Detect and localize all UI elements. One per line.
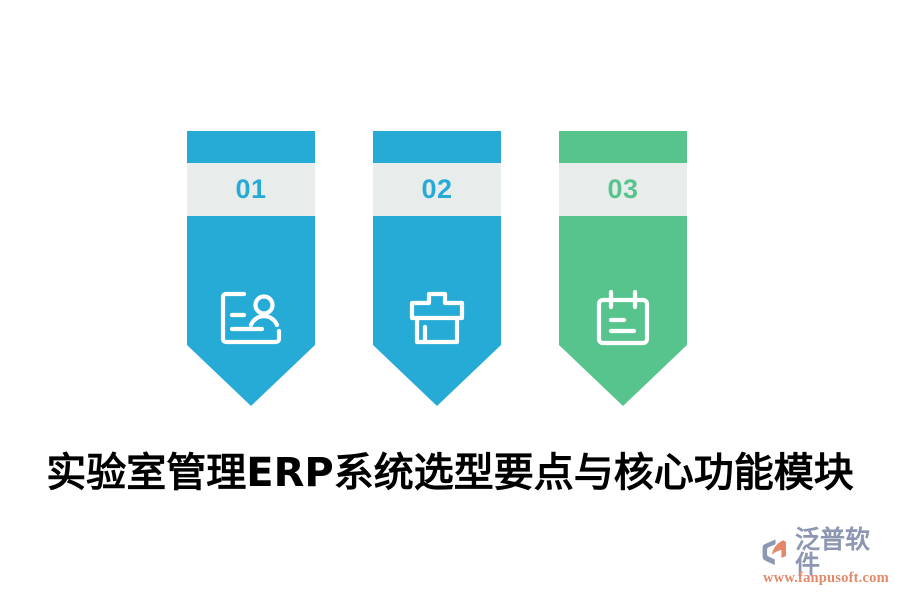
banner-number-band-03: 03 — [559, 163, 687, 216]
notepad-clipboard-icon — [559, 283, 687, 353]
page-title: 实验室管理ERP系统选型要点与核心功能模块 — [0, 440, 900, 498]
store-building-icon — [373, 283, 501, 353]
banner-item-03[interactable]: 03 — [559, 131, 687, 406]
brand-logo[interactable]: 泛普软件 www.fanpusoft.com — [762, 536, 894, 588]
banner-number-03: 03 — [607, 176, 638, 203]
logo-top-row: 泛普软件 — [762, 536, 894, 568]
id-card-contact-icon — [187, 283, 315, 353]
logo-url: www.fanpusoft.com — [763, 571, 894, 586]
banner-number-band-02: 02 — [373, 163, 501, 216]
slide-canvas: 01 02 — [0, 0, 900, 600]
fanpu-logo-mark — [762, 538, 792, 566]
banner-row: 01 02 — [187, 131, 687, 406]
banner-item-01[interactable]: 01 — [187, 131, 315, 406]
banner-number-02: 02 — [421, 176, 452, 203]
banner-number-01: 01 — [235, 176, 266, 203]
banner-item-02[interactable]: 02 — [373, 131, 501, 406]
banner-number-band-01: 01 — [187, 163, 315, 216]
